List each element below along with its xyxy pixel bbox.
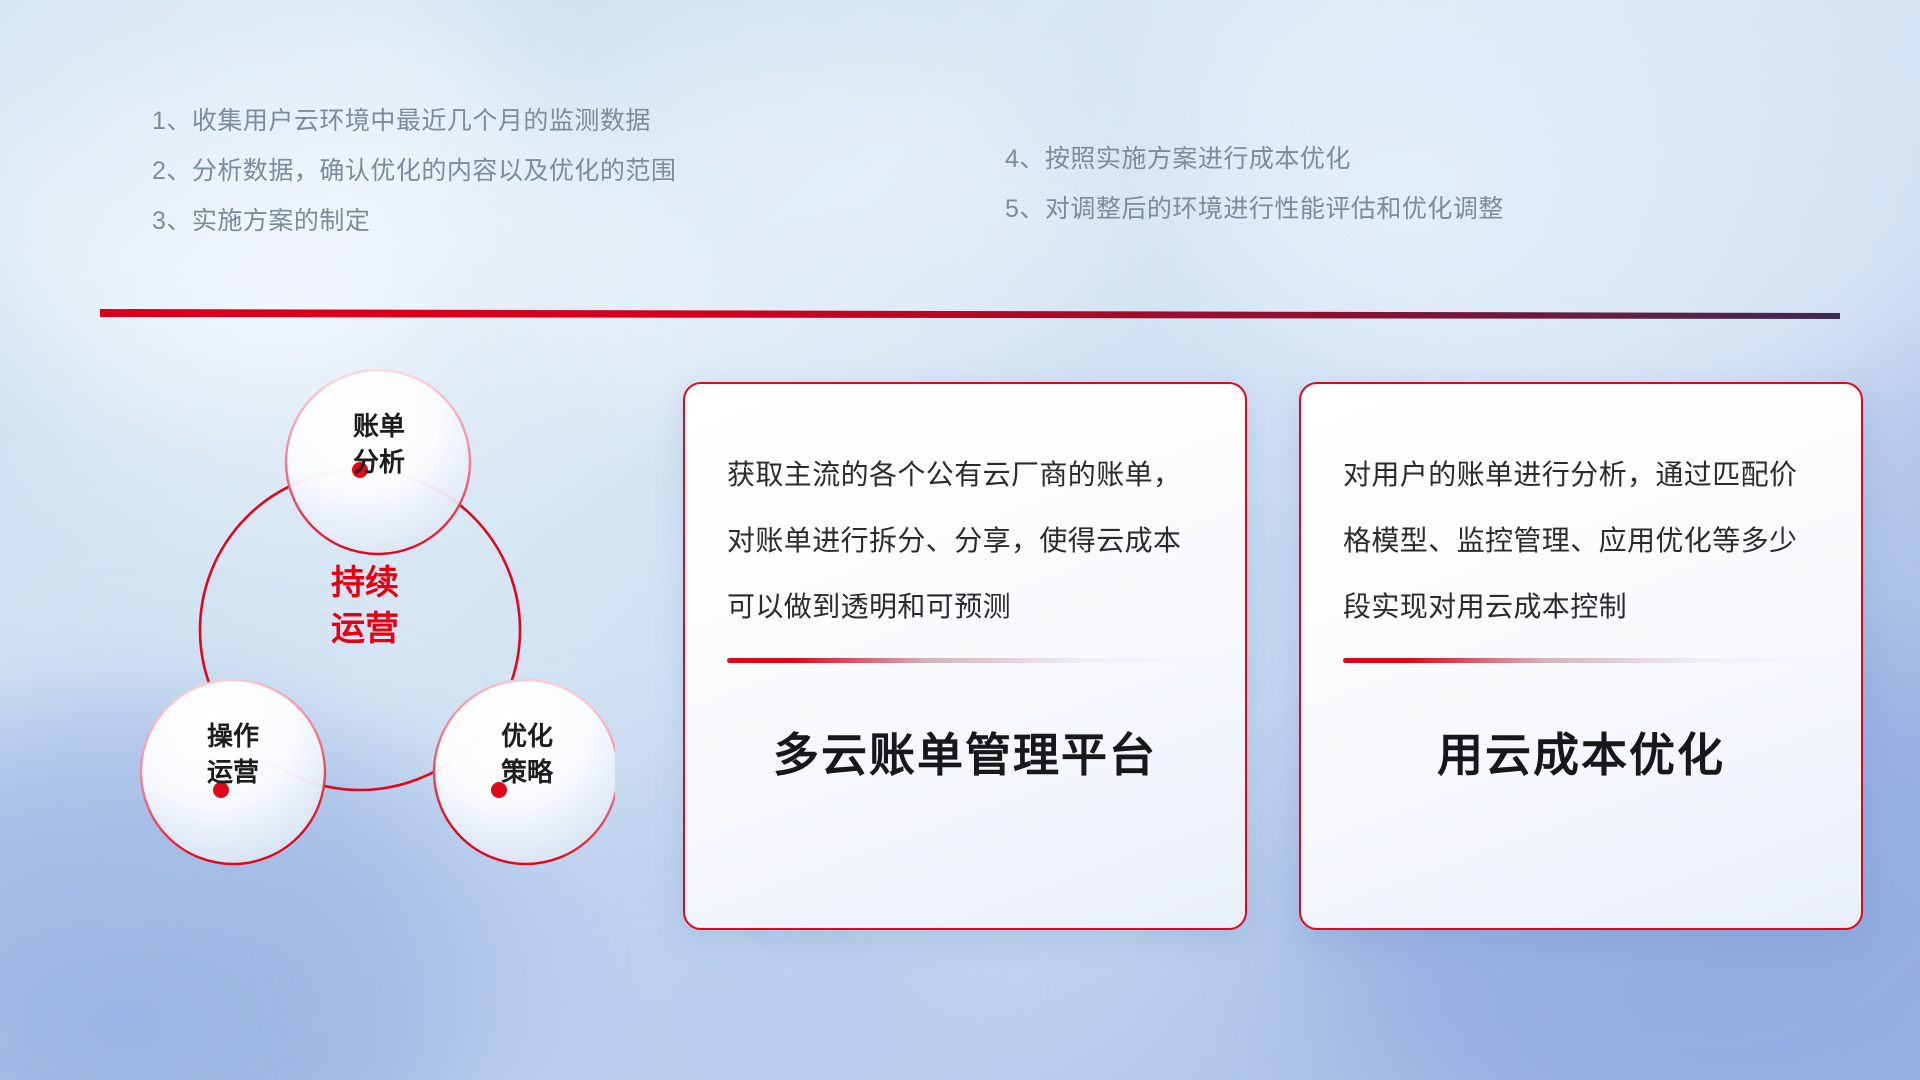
slide-canvas: 1、收集用户云环境中最近几个月的监测数据 2、分析数据，确认优化的内容以及优化的… bbox=[0, 0, 1920, 1080]
venn-diagram: 账单 分析 操作 运营 优化 策略 持续 运营 bbox=[95, 340, 615, 940]
red-divider bbox=[100, 308, 1840, 320]
card-body-text: 对用户的账单进行分析，通过匹配价格模型、监控管理、应用优化等多少段实现对用云成本… bbox=[1343, 442, 1819, 640]
card-multicloud-billing[interactable]: 获取主流的各个公有云厂商的账单，对账单进行拆分、分享，使得云成本可以做到透明和可… bbox=[683, 382, 1247, 930]
cards-section: 获取主流的各个公有云厂商的账单，对账单进行拆分、分享，使得云成本可以做到透明和可… bbox=[683, 382, 1863, 932]
card-title: 多云账单管理平台 bbox=[727, 719, 1203, 785]
card-cost-optimization[interactable]: 对用户的账单进行分析，通过匹配价格模型、监控管理、应用优化等多少段实现对用云成本… bbox=[1299, 382, 1863, 930]
venn-label-top: 账单 分析 bbox=[289, 408, 469, 480]
card-divider bbox=[1343, 658, 1819, 663]
card-divider bbox=[727, 658, 1203, 663]
steps-section: 1、收集用户云环境中最近几个月的监测数据 2、分析数据，确认优化的内容以及优化的… bbox=[0, 96, 1920, 276]
steps-column-left: 1、收集用户云环境中最近几个月的监测数据 2、分析数据，确认优化的内容以及优化的… bbox=[152, 96, 676, 246]
step-item: 5、对调整后的环境进行性能评估和优化调整 bbox=[1005, 184, 1504, 234]
venn-label-center: 持续 运营 bbox=[255, 560, 475, 652]
card-title: 用云成本优化 bbox=[1343, 719, 1819, 785]
step-item: 2、分析数据，确认优化的内容以及优化的范围 bbox=[152, 146, 676, 196]
steps-column-right: 4、按照实施方案进行成本优化 5、对调整后的环境进行性能评估和优化调整 bbox=[1005, 134, 1504, 234]
step-item: 1、收集用户云环境中最近几个月的监测数据 bbox=[152, 96, 676, 146]
step-item: 4、按照实施方案进行成本优化 bbox=[1005, 134, 1504, 184]
venn-label-right: 优化 策略 bbox=[437, 718, 617, 790]
step-item: 3、实施方案的制定 bbox=[152, 196, 676, 246]
card-body-text: 获取主流的各个公有云厂商的账单，对账单进行拆分、分享，使得云成本可以做到透明和可… bbox=[727, 442, 1203, 640]
venn-label-left: 操作 运营 bbox=[143, 718, 323, 790]
